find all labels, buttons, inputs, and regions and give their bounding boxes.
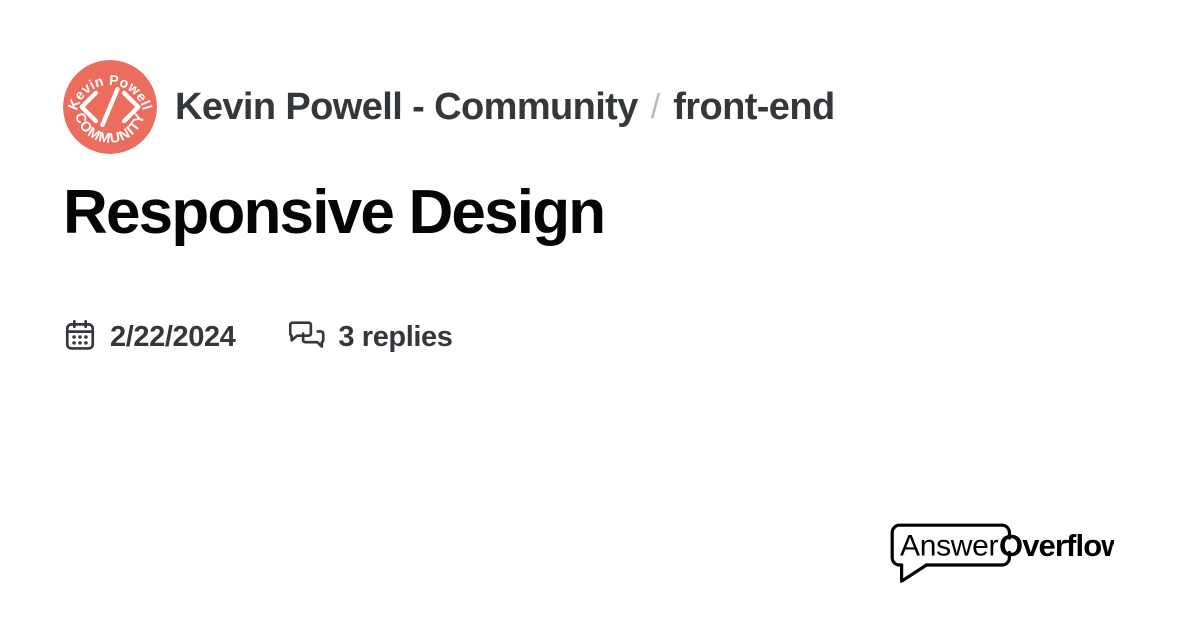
thread-date: 2/22/2024 xyxy=(110,323,235,352)
reply-count: 3 replies xyxy=(338,323,452,352)
breadcrumb-separator: / xyxy=(651,90,660,124)
chat-bubbles-icon xyxy=(289,318,325,357)
meta-date: 2/22/2024 xyxy=(63,318,235,357)
kevin-powell-community-logo-icon: Kevin Powell COMMUNITY xyxy=(63,60,157,154)
meta-replies: 3 replies xyxy=(289,318,452,357)
channel-name: front-end xyxy=(673,88,834,126)
thread-meta: 2/22/2024 3 replies xyxy=(63,318,453,357)
open-graph-card: Kevin Powell COMMUNITY Kevin Powell - Co… xyxy=(0,0,1200,630)
answer-overflow-logo: Answer Overflow xyxy=(888,521,1114,585)
svg-text:Answer: Answer xyxy=(900,530,999,563)
breadcrumb: Kevin Powell - Community / front-end xyxy=(175,88,835,126)
server-name: Kevin Powell - Community xyxy=(175,88,638,126)
svg-text:Overflow: Overflow xyxy=(999,528,1114,563)
calendar-icon xyxy=(63,318,97,357)
server-header: Kevin Powell COMMUNITY Kevin Powell - Co… xyxy=(63,60,835,154)
thread-title: Responsive Design xyxy=(63,180,604,247)
